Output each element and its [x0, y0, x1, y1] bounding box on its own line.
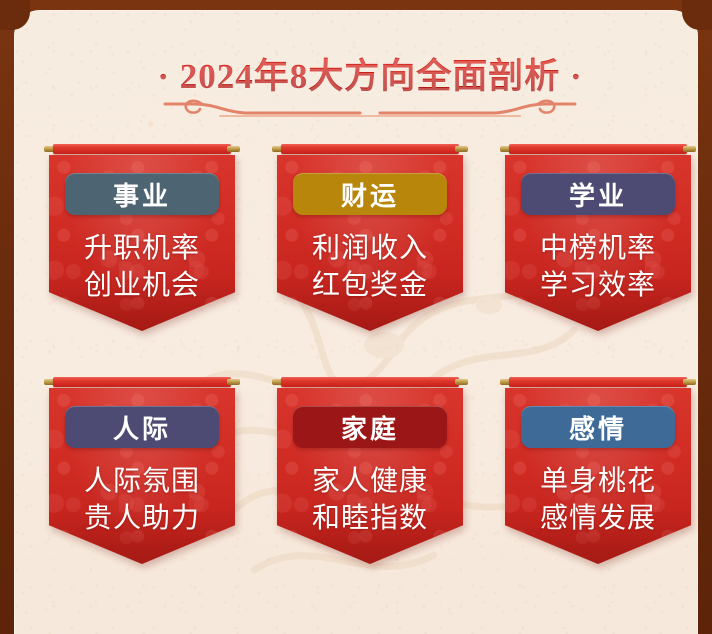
banner-lines: 中榜机率 学习效率 — [505, 229, 691, 303]
banner-line-1: 升职机率 — [49, 229, 235, 266]
banner-flag: 事业 升职机率 创业机会 — [49, 155, 235, 331]
banner-rod — [44, 142, 240, 156]
banner-flag: 家庭 家人健康 和睦指数 — [277, 388, 463, 564]
banner-badge[interactable]: 人际 — [65, 406, 219, 448]
banner-rod — [500, 142, 696, 156]
banner-lines: 升职机率 创业机会 — [49, 229, 235, 303]
banner-line-2: 创业机会 — [49, 266, 235, 303]
banner-badge[interactable]: 事业 — [65, 173, 219, 215]
rod-cap-right-icon — [227, 379, 240, 385]
banner-rod — [500, 375, 696, 389]
banner-line-2: 和睦指数 — [277, 499, 463, 536]
rod-bar — [281, 144, 459, 154]
banner-lines: 家人健康 和睦指数 — [277, 462, 463, 536]
banner-line-2: 感情发展 — [505, 499, 691, 536]
banner-relationships[interactable]: 人际 人际氛围 贵人助力 — [49, 375, 235, 564]
banner-rod — [272, 142, 468, 156]
rod-cap-right-icon — [683, 379, 696, 385]
banner-line-1: 单身桃花 — [505, 462, 691, 499]
rod-bar — [281, 377, 459, 387]
banner-line-1: 人际氛围 — [49, 462, 235, 499]
banner-family[interactable]: 家庭 家人健康 和睦指数 — [277, 375, 463, 564]
rod-bar — [53, 144, 231, 154]
page-title: · 2024年8大方向全面剖析 · — [157, 48, 582, 99]
banner-badge[interactable]: 家庭 — [293, 406, 447, 448]
banner-line-2: 学习效率 — [505, 266, 691, 303]
banner-line-2: 红包奖金 — [277, 266, 463, 303]
banner-career[interactable]: 事业 升职机率 创业机会 — [49, 142, 235, 331]
banner-wealth[interactable]: 财运 利润收入 红包奖金 — [277, 142, 463, 331]
banner-line-2: 贵人助力 — [49, 499, 235, 536]
banner-lines: 利润收入 红包奖金 — [277, 229, 463, 303]
poster-stage: · 2024年8大方向全面剖析 · — [0, 0, 712, 634]
rod-cap-right-icon — [683, 146, 696, 152]
banner-flag: 学业 中榜机率 学习效率 — [505, 155, 691, 331]
banner-lines: 单身桃花 感情发展 — [505, 462, 691, 536]
rod-cap-right-icon — [455, 146, 468, 152]
banner-line-1: 利润收入 — [277, 229, 463, 266]
banner-rod — [44, 375, 240, 389]
rod-bar — [509, 377, 687, 387]
banner-flag: 感情 单身桃花 感情发展 — [505, 388, 691, 564]
title-ornament-divider — [30, 96, 698, 122]
banner-badge[interactable]: 学业 — [521, 173, 675, 215]
banner-line-1: 中榜机率 — [505, 229, 691, 266]
banner-lines: 人际氛围 贵人助力 — [49, 462, 235, 536]
rod-bar — [509, 144, 687, 154]
banner-rod — [272, 375, 468, 389]
banner-flag: 人际 人际氛围 贵人助力 — [49, 388, 235, 564]
banner-study[interactable]: 学业 中榜机率 学习效率 — [505, 142, 691, 331]
inner-paper-panel: · 2024年8大方向全面剖析 · — [14, 10, 698, 634]
rod-cap-right-icon — [227, 146, 240, 152]
rod-bar — [53, 377, 231, 387]
banner-grid: 事业 升职机率 创业机会 财运 — [28, 142, 698, 564]
banner-badge[interactable]: 财运 — [293, 173, 447, 215]
banner-romance[interactable]: 感情 单身桃花 感情发展 — [505, 375, 691, 564]
banner-badge[interactable]: 感情 — [521, 406, 675, 448]
banner-flag: 财运 利润收入 红包奖金 — [277, 155, 463, 331]
banner-line-1: 家人健康 — [277, 462, 463, 499]
rod-cap-right-icon — [455, 379, 468, 385]
page-title-wrap: · 2024年8大方向全面剖析 · — [14, 48, 698, 99]
